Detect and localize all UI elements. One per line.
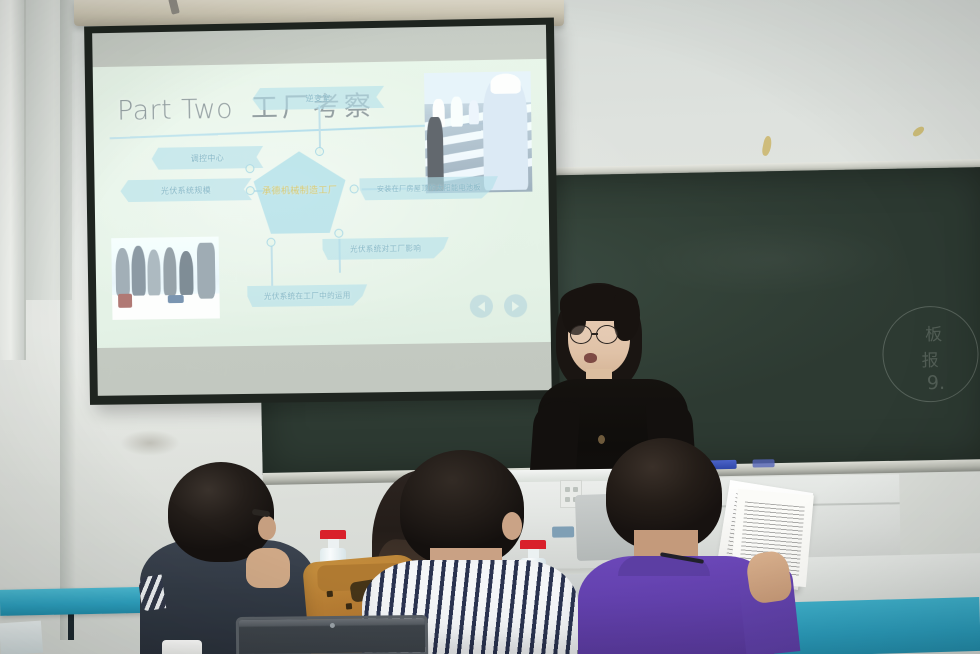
door-frame [0, 0, 26, 360]
student-hand [246, 548, 290, 588]
diagram-node-bottom[interactable]: 光伏系统在工厂中的运用 [247, 284, 367, 307]
glasses-left-lens [570, 325, 592, 344]
presenter-mouth [584, 353, 597, 363]
connector-dot [246, 186, 255, 195]
student-ear [258, 516, 276, 540]
slide-next-button[interactable] [504, 294, 528, 317]
bottle-cap [320, 530, 346, 539]
laptop-webcam [330, 623, 335, 628]
classroom-photo: 板 报 9. Part Two工厂考察 [0, 0, 980, 654]
center-line-1: 承德 [262, 186, 281, 200]
slide-title-en: Part Two [117, 94, 233, 127]
chalk-text-3: 9. [927, 372, 946, 394]
glasses-right-lens [596, 325, 618, 344]
door-shadow [60, 0, 76, 640]
diagram-node-right-lower[interactable]: 光伏系统对工厂影响 [322, 237, 449, 260]
glasses-bridge [592, 333, 598, 335]
diagram-node-top[interactable]: 逆变室 [252, 86, 384, 110]
connector-dot [350, 184, 359, 193]
bottle-cap [520, 540, 546, 549]
slide-photo-factory-visit [111, 237, 220, 320]
connector-dot [334, 229, 343, 238]
slide-prev-button[interactable] [470, 295, 493, 318]
blue-marker-secondary [752, 459, 774, 467]
connector-dot [266, 238, 275, 247]
paper-cup [162, 640, 202, 654]
roller-bracket [168, 0, 180, 15]
notebook [0, 621, 43, 654]
diagram-node-right-upper[interactable]: 安装在厂房屋顶的太阳能电池板 [359, 176, 498, 200]
lectern-label [552, 526, 574, 537]
projection-screen: Part Two工厂考察 [84, 18, 560, 405]
connector-dot [245, 164, 254, 173]
slide-photo-factory-roof [424, 71, 532, 193]
laptop [236, 615, 428, 654]
connector [271, 244, 273, 286]
presenter-pendant [598, 435, 605, 444]
slide-content: Part Two工厂考察 [93, 59, 551, 348]
student-ear [502, 512, 522, 540]
diagram-node-left-lower[interactable]: 光伏系统规模 [120, 178, 252, 202]
chalk-text-1: 板 [925, 320, 942, 345]
connector-dot [315, 147, 324, 156]
projected-slide: Part Two工厂考察 [93, 59, 551, 348]
center-line-2: 机械制造工厂 [281, 185, 338, 199]
chalk-text-2: 报 [921, 346, 938, 371]
diagram-node-center[interactable]: 承德 机械制造工厂 [253, 151, 346, 234]
student-sleeve-stripe [138, 574, 166, 611]
projection-screen-surface: Part Two工厂考察 [92, 25, 552, 396]
wall-smudge [120, 430, 180, 456]
